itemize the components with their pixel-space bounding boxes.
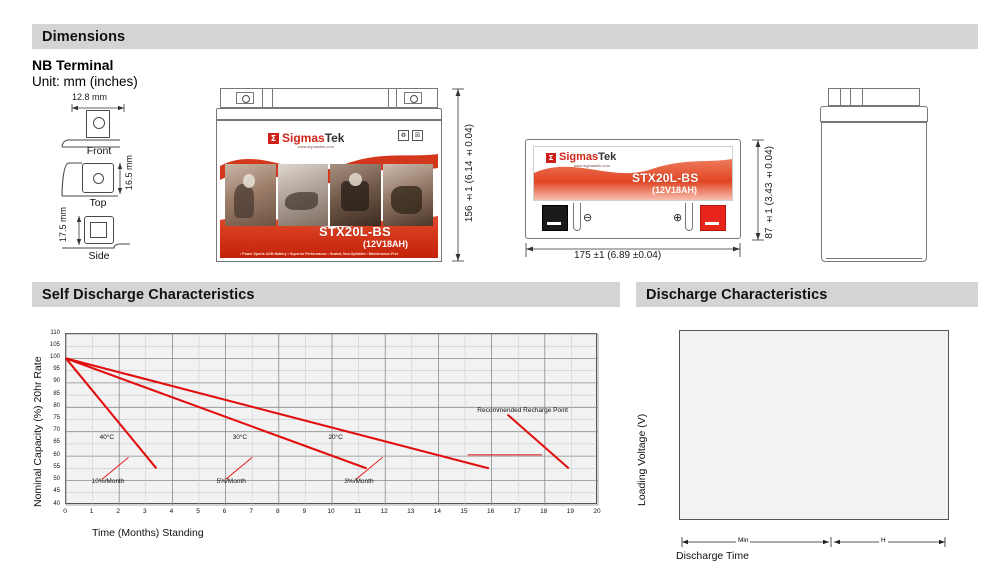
positive-terminal-slot (705, 222, 719, 225)
battery-side-collar (820, 106, 928, 122)
section-title-discharge: Discharge Characteristics (646, 287, 827, 303)
terminal-depth-dimension-arrow (116, 162, 124, 195)
section-header-discharge: Discharge Characteristics (636, 282, 978, 307)
self-discharge-y-tick: 110 (32, 330, 60, 336)
label-compliance-icons: ♻ ☒ (398, 130, 423, 141)
self-discharge-y-tick: 95 (32, 366, 60, 372)
self-discharge-annotation: 40°C (100, 434, 115, 441)
wee-bin-icon: ☒ (412, 130, 423, 141)
battery-side-lid-divider-2 (850, 88, 851, 106)
brand-name: SigmasTek (282, 132, 344, 144)
battery-model-name: STX20L-BS (319, 224, 391, 239)
top-brand-logo: Σ SigmasTek (546, 152, 616, 163)
battery-front-collar (216, 108, 442, 120)
self-discharge-x-tick: 10 (323, 508, 339, 515)
terminal-side-view-label: Side (76, 250, 122, 262)
self-discharge-x-tick: 7 (243, 508, 259, 515)
discharge-plot-area (679, 330, 949, 520)
label-photo-atv (330, 164, 381, 226)
battery-side-lid (828, 88, 920, 106)
terminal-side-base-line (60, 214, 136, 250)
discharge-y-axis-title: Loading Voltage (V) (636, 346, 648, 506)
self-discharge-y-tick: 80 (32, 403, 60, 409)
self-discharge-annotation: 10%/Month (92, 478, 125, 485)
discharge-axis-group-min: Min (736, 537, 750, 544)
self-discharge-annotation: 30°C (233, 434, 248, 441)
battery-side-lid-divider-3 (862, 88, 863, 106)
terminal-depth-label: 16.5 mm (124, 155, 134, 190)
discharge-axis-group-bars (679, 536, 951, 548)
positive-post-shape (685, 203, 693, 231)
self-discharge-x-tick: 0 (57, 508, 73, 515)
battery-width-label: 87 ±1 (3.43 ±0.04) (764, 146, 775, 239)
section-title-dimensions: Dimensions (42, 29, 125, 45)
unit-note: Unit: mm (inches) (32, 74, 138, 89)
self-discharge-x-tick: 3 (137, 508, 153, 515)
battery-width-dimension-arrow (752, 137, 764, 243)
discharge-chart: Loading Voltage (V) Min H Discharge Time (636, 320, 968, 560)
self-discharge-x-tick: 18 (536, 508, 552, 515)
self-discharge-annotation: 3%/Month (344, 478, 373, 485)
terminal-sideheight-label: 17.5 mm (58, 207, 68, 242)
self-discharge-x-tick: 1 (84, 508, 100, 515)
brand-name-part2: Tek (325, 131, 345, 145)
label-photo-strip (225, 164, 433, 226)
self-discharge-y-tick: 65 (32, 439, 60, 445)
top-brand-mark-icon: Σ (546, 153, 556, 163)
self-discharge-y-tick: 40 (32, 501, 60, 507)
discharge-svg (680, 331, 950, 521)
brand-logo: Σ SigmasTek (268, 132, 344, 144)
terminal-front-hole-icon (93, 117, 105, 129)
self-discharge-x-tick: 11 (350, 508, 366, 515)
negative-terminal-slot (547, 222, 561, 225)
self-discharge-y-tick: 75 (32, 415, 60, 421)
battery-front-lid-divider-1 (262, 88, 263, 108)
brand-url: www.sigmastek.com (298, 145, 334, 149)
nb-terminal-title: NB Terminal (32, 57, 113, 73)
self-discharge-y-tick: 100 (32, 354, 60, 360)
battery-tagline: • Power Sports AGM Battery • Superior Pe… (240, 252, 398, 256)
self-discharge-y-tick: 105 (32, 342, 60, 348)
label-photo-dirtbike (225, 164, 276, 226)
self-discharge-y-tick: 55 (32, 464, 60, 470)
self-discharge-annotation: Recommended Recharge Point (477, 407, 568, 414)
battery-length-label: 175 ±1 (6.89 ±0.04) (574, 250, 661, 261)
self-discharge-x-tick: 5 (190, 508, 206, 515)
terminal-sideheight-dimension-arrow (75, 215, 83, 246)
self-discharge-x-tick: 8 (270, 508, 286, 515)
self-discharge-chart: Nominal Capacity (%) 20hr Rate 404550556… (32, 320, 612, 550)
terminal-width-label: 12.8 mm (72, 92, 107, 102)
discharge-x-axis-title: Discharge Time (676, 550, 749, 562)
self-discharge-annotation: 5%/Month (217, 478, 246, 485)
self-discharge-x-tick: 2 (110, 508, 126, 515)
self-discharge-y-tick: 90 (32, 378, 60, 384)
self-discharge-annotation: 20°C (328, 434, 343, 441)
self-discharge-svg (66, 334, 598, 505)
self-discharge-x-tick: 16 (483, 508, 499, 515)
self-discharge-x-tick: 4 (163, 508, 179, 515)
negative-polarity-icon: ⊖ (583, 212, 592, 223)
brand-mark-icon: Σ (268, 133, 279, 144)
battery-front-label: Σ SigmasTek www.sigmastek.com ♻ ☒ STX20L… (220, 124, 438, 258)
label-photo-jetski (278, 164, 329, 226)
self-discharge-x-tick: 12 (376, 508, 392, 515)
self-discharge-x-tick: 6 (217, 508, 233, 515)
label-photo-motorcycle (383, 164, 434, 226)
self-discharge-x-tick: 17 (509, 508, 525, 515)
section-header-self-discharge: Self Discharge Characteristics (32, 282, 620, 307)
brand-name-part1: Sigmas (282, 131, 325, 145)
battery-front-lid-divider-4 (396, 88, 397, 108)
self-discharge-x-axis-title: Time (Months) Standing (92, 527, 204, 539)
positive-polarity-icon: ⊕ (673, 212, 682, 223)
section-title-self-discharge: Self Discharge Characteristics (42, 287, 255, 303)
top-brand-name-part1: Sigmas (559, 151, 598, 163)
top-brand-name: SigmasTek (559, 152, 616, 163)
self-discharge-x-tick: 14 (429, 508, 445, 515)
battery-side-body (821, 122, 927, 262)
self-discharge-x-tick: 20 (589, 508, 605, 515)
self-discharge-y-tick: 85 (32, 391, 60, 397)
self-discharge-y-tick: 60 (32, 452, 60, 458)
top-brand-url: www.sigmastek.com (574, 164, 610, 168)
self-discharge-plot-area (65, 333, 597, 504)
top-battery-model-name: STX20L-BS (632, 171, 698, 185)
self-discharge-y-tick: 50 (32, 476, 60, 482)
battery-side-lid-divider-1 (840, 88, 841, 106)
battery-front-post-left-hole-icon (242, 95, 250, 103)
battery-side-foot (826, 258, 922, 261)
self-discharge-x-tick: 19 (562, 508, 578, 515)
discharge-axis-group-hour: H (879, 537, 888, 544)
top-battery-voltage: (12V18AH) (652, 185, 697, 195)
self-discharge-y-tick: 70 (32, 427, 60, 433)
terminal-top-view-label: Top (74, 197, 122, 209)
section-header-dimensions: Dimensions (32, 24, 978, 49)
recycle-icon: ♻ (398, 130, 409, 141)
top-brand-name-part2: Tek (598, 151, 616, 163)
self-discharge-x-tick: 13 (403, 508, 419, 515)
battery-top-label: Σ SigmasTek www.sigmastek.com STX20L-BS … (533, 146, 733, 201)
battery-front-lid-divider-2 (272, 88, 273, 108)
terminal-front-view-label: Front (76, 145, 122, 157)
self-discharge-x-tick: 9 (296, 508, 312, 515)
self-discharge-y-tick: 45 (32, 488, 60, 494)
negative-terminal-block (542, 205, 568, 231)
battery-height-label: 156 ±1 (6.14 ±0.04) (464, 124, 475, 222)
battery-voltage: (12V18AH) (363, 239, 408, 249)
battery-front-lid-divider-3 (388, 88, 389, 108)
negative-post-shape (573, 203, 581, 231)
battery-front-post-right-hole-icon (410, 95, 418, 103)
positive-terminal-block (700, 205, 726, 231)
battery-height-dimension-arrow (452, 86, 464, 264)
self-discharge-x-tick: 15 (456, 508, 472, 515)
